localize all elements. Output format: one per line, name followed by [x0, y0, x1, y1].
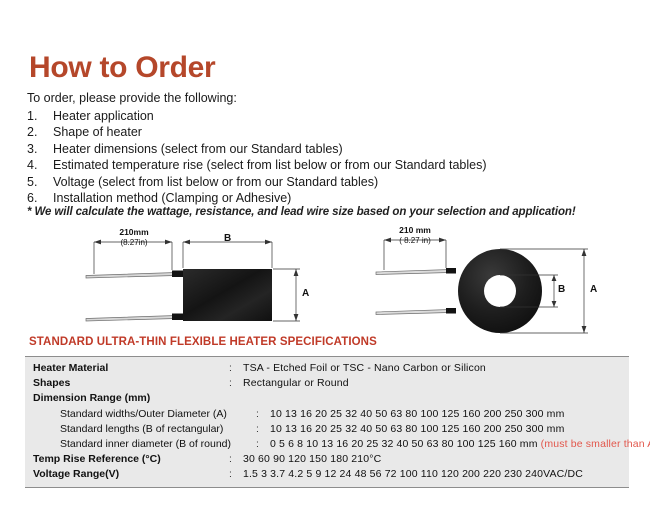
footnote-text: * We will calculate the wattage, resista… [27, 206, 576, 218]
rectangular-heater-diagram: 210mm (8.27in) B A [68, 228, 328, 338]
list-item-label: Installation method (Clamping or Adhesiv… [53, 190, 627, 206]
list-item-number: 3. [27, 141, 53, 157]
list-item: 1. Heater application [27, 108, 627, 124]
rect-width-label: B [224, 233, 231, 244]
list-item-number: 4. [27, 157, 53, 173]
spec-section-title: STANDARD ULTRA-THIN FLEXIBLE HEATER SPEC… [29, 336, 377, 348]
table-row: Standard lengths (B of rectangular) : 10… [25, 422, 629, 437]
row-label: Standard widths/Outer Diameter (A) [33, 407, 256, 422]
list-item: 2. Shape of heater [27, 124, 627, 140]
row-colon: : [229, 376, 243, 391]
intro-text: To order, please provide the following: [27, 91, 237, 105]
list-item: 3. Heater dimensions (select from our St… [27, 141, 627, 157]
list-item-label: Estimated temperature rise (select from … [53, 157, 627, 173]
round-lead-length-inches: ( 8.27 in) [385, 236, 445, 246]
row-colon: : [229, 361, 243, 376]
order-requirements-list: 1. Heater application 2. Shape of heater… [27, 108, 627, 206]
table-row: Dimension Range (mm) : [25, 391, 629, 406]
row-value: Rectangular or Round [243, 376, 629, 391]
row-label: Temp Rise Reference (°C) [33, 452, 229, 467]
row-value: TSA - Etched Foil or TSC - Nano Carbon o… [243, 361, 629, 376]
row-label: Standard inner diameter (B of round) [33, 437, 256, 452]
row-colon: : [256, 437, 270, 452]
rect-lead-length-value: 210mm [104, 228, 164, 238]
list-item: 6. Installation method (Clamping or Adhe… [27, 190, 627, 206]
row-label: Heater Material [33, 361, 229, 376]
rect-lead-length-inches: (8.27in) [104, 238, 164, 248]
spec-table: Heater Material : TSA - Etched Foil or T… [25, 356, 629, 488]
list-item-number: 2. [27, 124, 53, 140]
table-row: Heater Material : TSA - Etched Foil or T… [25, 357, 629, 376]
row-label: Dimension Range (mm) [33, 391, 229, 406]
list-item-label: Heater dimensions (select from our Stand… [53, 141, 627, 157]
rect-height-label: A [302, 288, 309, 299]
row-label: Standard lengths (B of rectangular) [33, 422, 256, 437]
row-colon: : [229, 452, 243, 467]
row-value: 0 5 6 8 10 13 16 20 25 32 40 50 63 80 10… [270, 437, 650, 452]
page-root: How to Order To order, please provide th… [0, 0, 650, 523]
list-item-number: 5. [27, 174, 53, 190]
list-item-label: Shape of heater [53, 124, 627, 140]
round-lead-length-caption: 210 mm ( 8.27 in) [385, 226, 445, 245]
row-colon: : [229, 467, 243, 482]
row-value-text: 0 5 6 8 10 13 16 20 25 32 40 50 63 80 10… [270, 438, 541, 450]
round-lead-length-value: 210 mm [385, 226, 445, 236]
list-item: 4. Estimated temperature rise (select fr… [27, 157, 627, 173]
table-row: Voltage Range(V) : 1.5 3 3.7 4.2 5 9 12 … [25, 467, 629, 486]
round-inner-diameter-label: B [558, 284, 565, 295]
list-item: 5. Voltage (select from list below or fr… [27, 174, 627, 190]
list-item-label: Voltage (select from list below or from … [53, 174, 627, 190]
row-value-note: (must be smaller than A) [541, 438, 650, 450]
list-item-label: Heater application [53, 108, 627, 124]
table-row: Standard inner diameter (B of round) : 0… [25, 437, 629, 452]
heater-diagrams: 210mm (8.27in) B A [0, 228, 650, 338]
row-value: 10 13 16 20 25 32 40 50 63 80 100 125 16… [270, 422, 629, 437]
table-row: Shapes : Rectangular or Round [25, 376, 629, 391]
row-colon: : [256, 422, 270, 437]
list-item-number: 6. [27, 190, 53, 206]
row-label: Voltage Range(V) [33, 467, 229, 482]
row-value: 1.5 3 3.7 4.2 5 9 12 24 48 56 72 100 110… [243, 467, 629, 482]
row-colon: : [256, 407, 270, 422]
rect-lead-length-caption: 210mm (8.27in) [104, 228, 164, 247]
table-row: Temp Rise Reference (°C) : 30 60 90 120 … [25, 452, 629, 467]
row-value: 10 13 16 20 25 32 40 50 63 80 100 125 16… [270, 407, 629, 422]
round-heater-diagram: 210 mm ( 8.27 in) B A [372, 228, 622, 341]
page-title: How to Order [29, 53, 215, 83]
list-item-number: 1. [27, 108, 53, 124]
row-label: Shapes [33, 376, 229, 391]
row-value: 30 60 90 120 150 180 210°C [243, 452, 629, 467]
round-outer-diameter-label: A [590, 284, 597, 295]
table-row: Standard widths/Outer Diameter (A) : 10 … [25, 407, 629, 422]
